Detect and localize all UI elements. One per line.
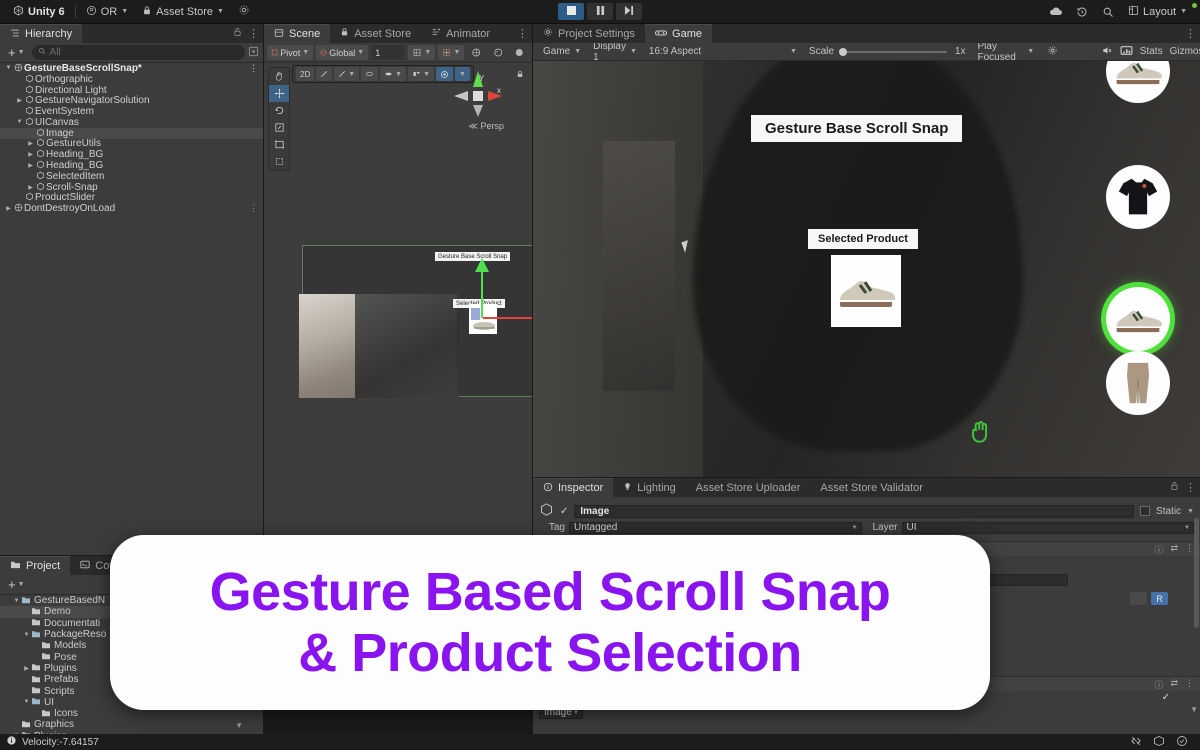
- hierarchy-item-image[interactable]: Image: [0, 128, 263, 139]
- layer-label: Layer: [866, 522, 898, 533]
- pause-button[interactable]: [587, 3, 613, 20]
- hierarchy-item-label: Heading_BG: [46, 149, 103, 160]
- game-display-mode-label: Game: [543, 46, 570, 57]
- preferences-button[interactable]: [231, 2, 257, 22]
- layout-dropdown[interactable]: Layout ▼: [1121, 2, 1194, 22]
- chevron-right-icon[interactable]: ▶: [22, 665, 31, 672]
- hierarchy-item-dontdestroyonload[interactable]: ▶DontDestroyOnLoad⋮: [0, 203, 263, 214]
- tab-inspector[interactable]: Inspector: [533, 478, 613, 497]
- scene-viewport[interactable]: 2D ▼ ▼ ▼: [264, 63, 532, 555]
- overlay-line-1: Gesture Based Scroll Snap: [210, 562, 891, 622]
- hierarchy-item-productslider[interactable]: ProductSlider: [0, 193, 263, 204]
- global-toggle[interactable]: Global ▼: [316, 45, 368, 60]
- project-item-label: Icons: [54, 708, 78, 719]
- gear-icon: [238, 4, 250, 19]
- chevron-down-icon: ▼: [357, 49, 364, 56]
- tab-label: Scene: [289, 28, 320, 40]
- scene-webcam-overlay: [355, 294, 459, 398]
- project-item-label: Models: [54, 640, 86, 651]
- rect-tool[interactable]: [269, 136, 289, 153]
- scene-tabrow: SceneAsset StoreAnimator ⋮: [264, 24, 532, 43]
- scene-icon: [274, 28, 284, 41]
- game-display-mode-dropdown[interactable]: Game ▼: [537, 45, 587, 59]
- gameobject-icon: [35, 182, 46, 193]
- project-item-label: GestureBasedN: [34, 595, 105, 606]
- game-selected-product-label: Selected Product: [808, 229, 918, 249]
- console-icon: [80, 560, 90, 572]
- tab-game[interactable]: Game: [645, 24, 712, 43]
- play-mode-label: Play Focused: [977, 41, 1023, 63]
- chevron-right-icon[interactable]: ▶: [26, 162, 35, 169]
- gameobject-icon: [24, 74, 35, 85]
- plus-icon: +: [8, 46, 16, 59]
- tab-label: Asset Store Validator: [820, 482, 923, 494]
- more-options-icon[interactable]: ⋮: [249, 203, 258, 214]
- chevron-down-icon: ▼: [573, 710, 579, 716]
- status-indicator-dot: [1192, 3, 1197, 8]
- project-item-label: PackageReso: [44, 629, 106, 640]
- chevron-down-icon[interactable]: ▼: [1187, 508, 1194, 515]
- tab-label: Asset Store: [354, 28, 411, 40]
- layout-label: Layout: [1143, 6, 1176, 18]
- chevron-down-icon: ▼: [1184, 525, 1190, 531]
- project-item-graphics[interactable]: Graphics: [0, 719, 263, 730]
- hierarchy-tree[interactable]: ▼GestureBaseScrollSnap*⋮OrthographicDire…: [0, 63, 263, 555]
- inspector-tag-layer-row: Tag Untagged ▼ Layer UI ▼: [533, 521, 1200, 534]
- inspector-scroll-down-icon[interactable]: ▼: [1190, 705, 1198, 714]
- gesture-hand-cursor: [967, 418, 993, 450]
- bulb-icon: [623, 481, 632, 495]
- tab-asset-store-uploader[interactable]: Asset Store Uploader: [686, 478, 811, 497]
- scene-canvas-rect[interactable]: Gesture Base Scroll Snap Selected Produc…: [302, 245, 532, 397]
- pivot-label: Pivot: [280, 48, 300, 58]
- game-bg-doorframe: [603, 141, 675, 391]
- hierarchy-item-selecteditem[interactable]: SelectedItem: [0, 171, 263, 182]
- accessibility-icon[interactable]: [1176, 735, 1188, 750]
- chevron-down-icon[interactable]: ▼: [22, 632, 31, 638]
- tag-value: Untagged: [574, 522, 617, 533]
- game-tab-actions: ⋮: [1185, 27, 1196, 40]
- folder-icon: [31, 675, 41, 685]
- game-scale-slider[interactable]: Scale 1x: [803, 45, 972, 59]
- tab-asset-store-validator[interactable]: Asset Store Validator: [810, 478, 933, 497]
- chevron-down-icon: ▼: [348, 71, 355, 78]
- folder-icon: [41, 652, 51, 662]
- game-display-dropdown[interactable]: Display 1 ▼: [587, 45, 643, 59]
- grid-snap-button[interactable]: ▼: [408, 45, 435, 60]
- shoe-icon: [1112, 61, 1164, 85]
- tab-animator[interactable]: Animator: [421, 24, 500, 43]
- projection-arrow-icon: ≪: [469, 121, 478, 131]
- cloud-icon[interactable]: [1043, 2, 1069, 22]
- scene-gizmo-toggle[interactable]: [316, 67, 332, 81]
- hierarchy-item-label: Image: [46, 128, 74, 139]
- scene-gesture-hand-icon: [531, 364, 532, 381]
- title-overlay-card: Gesture Based Scroll Snap & Product Sele…: [110, 535, 990, 710]
- hierarchy-filter-icon[interactable]: [248, 46, 259, 60]
- info-icon[interactable]: ⓘ: [1154, 543, 1163, 556]
- component-header-actions: ⓘ ⇄ ⋮: [1154, 543, 1194, 556]
- gameobject-icon: [24, 192, 35, 203]
- toolbar-right-group: Layout ▼: [1043, 2, 1194, 22]
- hierarchy-item-label: GestureUtils: [46, 138, 101, 149]
- status-message: Velocity:-7.64157: [22, 737, 99, 748]
- gear-icon: [543, 27, 553, 40]
- chevron-down-icon: ▼: [121, 8, 128, 15]
- hierarchy-item-eventsystem[interactable]: EventSystem: [0, 106, 263, 117]
- gameobject-icon: [24, 117, 35, 128]
- preset-icon[interactable]: ⇄: [1170, 678, 1178, 691]
- hierarchy-item-label: Heading_BG: [46, 160, 103, 171]
- pause-icon: [596, 6, 605, 18]
- project-item-label: Demo: [44, 606, 71, 617]
- scene-lighting-toggle[interactable]: ▼: [334, 67, 359, 81]
- shoe-icon: [1112, 305, 1164, 333]
- game-scale-label: Scale: [809, 46, 834, 57]
- hierarchy-item-label: Directional Light: [35, 85, 107, 96]
- chevron-down-icon: ▼: [1180, 8, 1187, 15]
- carousel-item-shoe-selected[interactable]: [1106, 287, 1170, 351]
- folder-icon: [31, 686, 41, 696]
- project-create-button[interactable]: + ▼: [4, 578, 29, 591]
- tab-hierarchy[interactable]: Hierarchy: [0, 24, 82, 43]
- folder-icon: [31, 618, 41, 628]
- folder-icon: [31, 630, 41, 640]
- chevron-right-icon[interactable]: ▶: [26, 151, 35, 158]
- scene-visibility-toggle[interactable]: ▼: [408, 67, 434, 81]
- overlay-line-2: & Product Selection: [298, 623, 802, 683]
- chevron-right-icon[interactable]: ▶: [4, 205, 13, 212]
- scene-audio-button[interactable]: [510, 45, 529, 60]
- scene-toolbar: Pivot ▼ Global ▼ 1 ▼ ▼: [264, 43, 532, 63]
- chevron-down-icon[interactable]: ▼: [22, 699, 31, 705]
- game-stats-icon[interactable]: [1120, 45, 1133, 59]
- chevron-down-icon: ▼: [395, 71, 402, 78]
- more-options-icon[interactable]: ⋮: [1185, 481, 1196, 494]
- gizmos-label[interactable]: Gizmos: [1170, 46, 1200, 57]
- tshirt-icon: [1116, 176, 1160, 218]
- chevron-down-icon: ▼: [574, 48, 581, 55]
- toolbar-divider: [75, 5, 76, 18]
- tab-label: Project Settings: [558, 28, 635, 40]
- chevron-right-icon[interactable]: ▶: [26, 184, 35, 191]
- more-options-icon[interactable]: ⋮: [249, 63, 258, 74]
- scene-tab-actions: ⋮: [517, 27, 528, 40]
- unity-version-button[interactable]: Unity 6: [6, 2, 72, 22]
- chevron-down-icon: ▼: [424, 49, 431, 56]
- search-icon[interactable]: [1095, 2, 1121, 22]
- hierarchy-item-label: ProductSlider: [35, 192, 95, 203]
- pants-icon: [1123, 361, 1153, 405]
- account-button[interactable]: OR ▼: [79, 2, 135, 22]
- animator-icon: [431, 27, 441, 40]
- static-label: Static: [1156, 506, 1181, 517]
- project-item-label: Prefabs: [44, 674, 78, 685]
- rotate-tool[interactable]: [269, 102, 289, 119]
- scale-slider-knob[interactable]: [839, 48, 847, 56]
- grid-size-field[interactable]: 1: [371, 45, 405, 60]
- inspector-tab-actions: ⋮: [1170, 481, 1196, 494]
- info-icon: [6, 735, 17, 749]
- shoe-icon: [836, 274, 896, 308]
- scale-slider-track[interactable]: [842, 51, 947, 53]
- tab-project-settings[interactable]: Project Settings: [533, 24, 645, 43]
- scene-fx-toggle[interactable]: [361, 67, 378, 81]
- gameobject-icon: [35, 138, 46, 149]
- svg-text:x: x: [497, 86, 501, 95]
- chevron-down-icon: ▼: [630, 48, 637, 55]
- step-button[interactable]: [616, 3, 642, 20]
- cull-checkbox[interactable]: ✓: [1162, 692, 1170, 703]
- project-item-label: Pose: [54, 652, 77, 663]
- folder-icon: [41, 641, 51, 651]
- info-icon: [543, 482, 553, 495]
- scene-overlay-toolbar: 2D ▼ ▼ ▼: [292, 65, 474, 83]
- game-heading-label: Gesture Base Scroll Snap: [751, 115, 962, 142]
- chevron-down-icon: ▼: [18, 49, 25, 56]
- folder-icon: [31, 607, 41, 617]
- hand-tool[interactable]: [269, 68, 289, 85]
- more-options-icon[interactable]: ⋮: [1185, 543, 1194, 556]
- game-aspect-dropdown[interactable]: 16:9 Aspect ▼: [643, 45, 803, 59]
- mute-icon[interactable]: [1101, 45, 1113, 59]
- scene-lighting-button[interactable]: [489, 45, 508, 60]
- game-toolbar-right: Play Focused ▼ Stats Gizmos ▼: [971, 45, 1200, 59]
- scene-2d-toggle[interactable]: 2D: [296, 67, 314, 81]
- object-name-field[interactable]: Image: [574, 505, 1134, 518]
- gameobject-icon: [539, 502, 554, 520]
- project-item-label: Graphics: [34, 719, 74, 730]
- layer-dropdown[interactable]: UI ▼: [902, 522, 1195, 534]
- scene-camera-lock-icon[interactable]: [516, 69, 524, 81]
- component-header-actions-2: ⓘ ⇄ ⋮: [1154, 678, 1194, 691]
- hierarchy-item-heading_bg[interactable]: ▶Heading_BG: [0, 149, 263, 160]
- package-icon[interactable]: [1153, 735, 1165, 750]
- pivot-toggle[interactable]: Pivot ▼: [267, 45, 313, 60]
- chevron-down-icon: ▼: [217, 8, 224, 15]
- gameobject-icon: [24, 85, 35, 96]
- static-checkbox[interactable]: [1140, 506, 1150, 516]
- hierarchy-item-orthographic[interactable]: Orthographic: [0, 74, 263, 85]
- chevron-down-icon[interactable]: ▼: [4, 65, 13, 71]
- project-item-label: Documentati: [44, 618, 100, 629]
- asset-store-button[interactable]: Asset Store ▼: [135, 2, 231, 22]
- more-options-icon[interactable]: ⋮: [1185, 678, 1194, 691]
- hierarchy-item-label: SelectedItem: [46, 171, 104, 182]
- history-icon[interactable]: [1069, 2, 1095, 22]
- raycast-toggle[interactable]: R: [1151, 592, 1168, 605]
- game-aspect-label: 16:9 Aspect: [649, 46, 701, 57]
- gameobject-icon: [35, 171, 46, 182]
- tab-label: Inspector: [558, 482, 603, 494]
- add-gameobject-button[interactable]: + ▼: [4, 46, 29, 59]
- more-options-icon[interactable]: ⋮: [248, 27, 259, 40]
- scene-selected-product-thumb: [469, 304, 497, 334]
- project-scroll-down-icon[interactable]: ▼: [235, 721, 243, 730]
- tab-label: Animator: [446, 28, 490, 40]
- move-tool[interactable]: [269, 85, 289, 102]
- hierarchy-item-label: GestureNavigatorSolution: [35, 95, 150, 106]
- carousel-item-tshirt[interactable]: [1106, 165, 1170, 229]
- tab-scene[interactable]: Scene: [264, 24, 330, 43]
- gizmo-y-arrow[interactable]: [475, 258, 489, 272]
- hierarchy-panel: Hierarchy ⋮ + ▼ All: [0, 24, 263, 555]
- tab-project[interactable]: Project: [0, 556, 70, 575]
- scene-transform-tools: [268, 67, 290, 171]
- account-label: OR: [101, 6, 118, 18]
- search-placeholder-label: All: [50, 47, 61, 58]
- object-enabled-checkbox[interactable]: ✓: [560, 506, 568, 517]
- chevron-right-icon[interactable]: ▶: [26, 140, 35, 147]
- hierarchy-item-gesturebasescrollsnap-[interactable]: ▼GestureBaseScrollSnap*⋮: [0, 63, 263, 74]
- transform-tool[interactable]: [269, 153, 289, 170]
- game-toolbar: Game ▼ Display 1 ▼ 16:9 Aspect ▼ Scale 1…: [533, 43, 1200, 61]
- chevron-down-icon: ▼: [302, 49, 309, 56]
- scale-tool[interactable]: [269, 119, 289, 136]
- more-options-icon[interactable]: ⋮: [517, 27, 528, 40]
- chevron-down-icon[interactable]: ▼: [15, 119, 24, 125]
- inspector-scrollbar[interactable]: [1194, 518, 1199, 628]
- projection-label: Persp: [480, 121, 504, 131]
- game-tabrow: Project SettingsGame ⋮: [533, 24, 1200, 43]
- hierarchy-item-label: DontDestroyOnLoad: [24, 203, 115, 214]
- chevron-down-icon: ▼: [1027, 48, 1034, 55]
- status-bar-right: [1130, 735, 1194, 750]
- scene-audio-toggle[interactable]: ▼: [380, 67, 406, 81]
- tab-label: Game: [672, 28, 702, 40]
- image-preview-toggle[interactable]: [1130, 592, 1147, 605]
- hierarchy-item-label: GestureBaseScrollSnap*: [24, 63, 142, 74]
- hierarchy-item-heading_bg[interactable]: ▶Heading_BG: [0, 160, 263, 171]
- lock-icon: [142, 5, 152, 19]
- scene-camera-button[interactable]: [467, 45, 486, 60]
- global-label: Global: [329, 48, 355, 58]
- hierarchy-item-uicanvas[interactable]: ▼UICanvas: [0, 117, 263, 128]
- folder-icon: [31, 663, 41, 673]
- game-display-label: Display 1: [593, 41, 626, 63]
- play-button[interactable]: [558, 3, 584, 20]
- search-icon: [38, 47, 46, 58]
- status-bar: Velocity:-7.64157: [0, 734, 1200, 750]
- hierarchy-item-label: Scroll-Snap: [46, 182, 98, 193]
- search-input[interactable]: All: [32, 45, 245, 60]
- chevron-down-icon: ▼: [852, 525, 858, 531]
- toolbar-left-group: Unity 6 OR ▼ Asset Store ▼: [0, 2, 257, 22]
- hierarchy-item-gestureutils[interactable]: ▶GestureUtils: [0, 139, 263, 150]
- scene-view-gizmo[interactable]: Y x: [450, 67, 506, 129]
- lock-icon[interactable]: [233, 27, 242, 40]
- gameobject-icon: [35, 149, 46, 160]
- scene-heading-label: Gesture Base Scroll Snap: [435, 252, 510, 261]
- more-options-icon[interactable]: ⋮: [1185, 27, 1196, 40]
- code-optimization-icon[interactable]: [1130, 735, 1142, 750]
- hierarchy-item-label: UICanvas: [35, 117, 79, 128]
- hierarchy-tab-actions: ⋮: [233, 27, 259, 40]
- game-viewport[interactable]: Gesture Base Scroll Snap Selected Produc…: [533, 61, 1200, 477]
- gameobject-icon: [24, 95, 35, 106]
- carousel-item-pants[interactable]: [1106, 351, 1170, 415]
- hierarchy-item-gesturenavigatorsolution[interactable]: ▶GestureNavigatorSolution: [0, 95, 263, 106]
- scene-panel: SceneAsset StoreAnimator ⋮ Pivot ▼ Globa…: [264, 24, 532, 555]
- hierarchy-icon: [10, 28, 20, 41]
- hierarchy-item-directional-light[interactable]: Directional Light: [0, 85, 263, 96]
- gameobject-icon: [24, 106, 35, 117]
- hierarchy-tabrow: Hierarchy ⋮: [0, 24, 263, 43]
- raycast-toggle-group: R: [1130, 592, 1194, 605]
- lock-icon: [340, 27, 349, 40]
- lock-icon[interactable]: [1170, 481, 1179, 494]
- product-carousel[interactable]: [1106, 61, 1190, 477]
- preset-icon[interactable]: ⇄: [1170, 543, 1178, 556]
- chevron-right-icon[interactable]: ▶: [15, 97, 24, 104]
- stats-label[interactable]: Stats: [1140, 46, 1163, 57]
- scene-root-icon: [13, 203, 24, 214]
- plus-icon: +: [8, 578, 16, 591]
- tab-label: Asset Store Uploader: [696, 482, 801, 494]
- gameobject-icon: [35, 160, 46, 171]
- folder-icon: [31, 697, 41, 707]
- chevron-down-icon[interactable]: ▼: [12, 598, 21, 604]
- game-selected-product-card[interactable]: [831, 255, 901, 327]
- folder-icon: [21, 720, 31, 730]
- folder-icon: [21, 596, 31, 606]
- gizmo-x-axis[interactable]: [483, 317, 532, 319]
- grid-visibility-button[interactable]: ▼: [438, 45, 464, 60]
- play-mode-dropdown[interactable]: Play Focused ▼: [971, 45, 1040, 59]
- layer-value: UI: [907, 522, 917, 533]
- project-item-label: Scripts: [44, 686, 75, 697]
- tab-hierarchy-label: Hierarchy: [25, 28, 72, 40]
- tab-lighting[interactable]: Lighting: [613, 478, 686, 497]
- svg-text:Y: Y: [479, 74, 485, 83]
- tag-dropdown[interactable]: Untagged ▼: [569, 522, 862, 534]
- hierarchy-item-scroll-snap[interactable]: ▶Scroll-Snap: [0, 182, 263, 193]
- unity-editor-window: Unity 6 OR ▼ Asset Store ▼: [0, 0, 1200, 750]
- chevron-down-icon: ▼: [423, 71, 430, 78]
- chevron-down-icon: ▼: [18, 581, 25, 588]
- stop-icon: [567, 6, 576, 18]
- project-item-label: Plugins: [44, 663, 77, 674]
- asset-store-label: Asset Store: [156, 6, 213, 18]
- gizmo-y-axis[interactable]: [481, 266, 483, 318]
- unity-logo-icon: [13, 5, 24, 19]
- play-controls: [558, 3, 642, 20]
- carousel-item-shoe-top[interactable]: [1106, 61, 1170, 103]
- scene-projection-label[interactable]: ≪ Persp: [469, 121, 504, 132]
- game-panel: Project SettingsGame ⋮ Game ▼ Display 1 …: [533, 24, 1200, 477]
- tab-label: Project: [26, 560, 60, 572]
- account-icon: [86, 5, 97, 19]
- main-toolbar: Unity 6 OR ▼ Asset Store ▼: [0, 0, 1200, 24]
- game-settings-icon[interactable]: [1047, 45, 1058, 59]
- tag-label: Tag: [539, 522, 565, 533]
- tab-asset-store[interactable]: Asset Store: [330, 24, 421, 43]
- inspector-object-header: ✓ Image Static ▼: [533, 503, 1200, 519]
- chevron-down-icon: ▼: [790, 48, 797, 55]
- gameobject-icon: [35, 128, 46, 139]
- tab-label: Lighting: [637, 482, 676, 494]
- unity-version-label: Unity 6: [28, 6, 65, 18]
- step-icon: [624, 6, 634, 18]
- info-icon[interactable]: ⓘ: [1154, 678, 1163, 691]
- game-icon: [655, 28, 667, 40]
- layout-icon: [1128, 5, 1139, 19]
- game-scale-value: 1x: [955, 46, 966, 57]
- hierarchy-item-label: EventSystem: [35, 106, 94, 117]
- project-item-label: UI: [44, 697, 54, 708]
- inspector-tabrow: InspectorLightingAsset Store UploaderAss…: [533, 478, 1200, 497]
- chevron-down-icon: ▼: [453, 49, 460, 56]
